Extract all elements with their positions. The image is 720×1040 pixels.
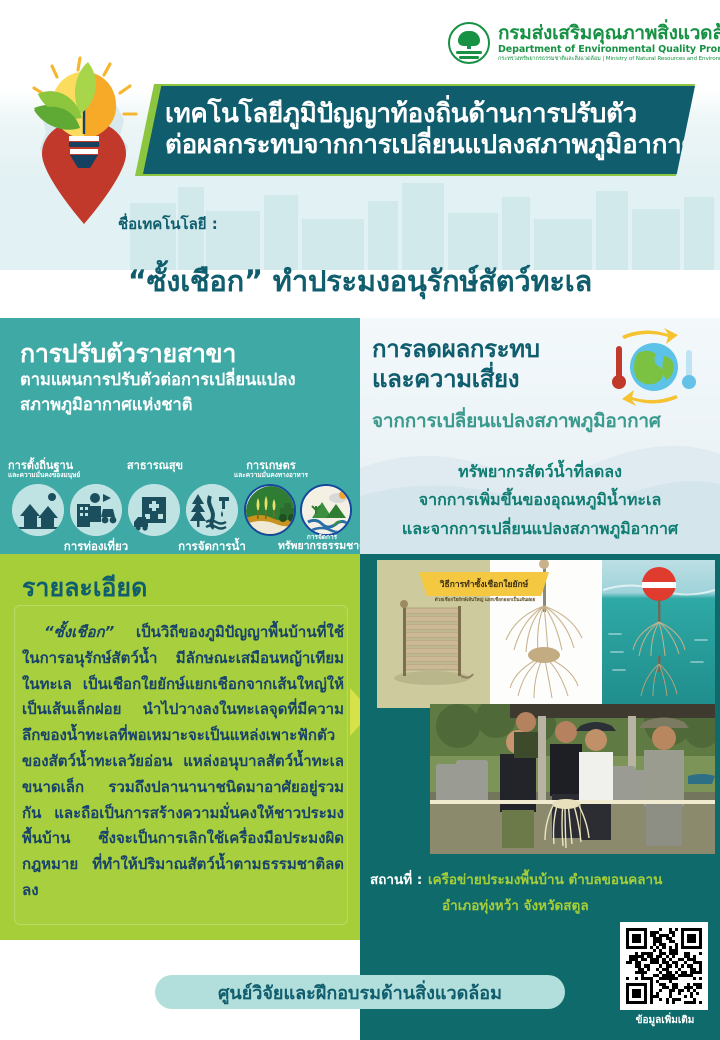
sector-item-tourism[interactable] bbox=[70, 484, 122, 536]
details-quoted-term: “ซั้งเชือก” bbox=[44, 623, 114, 641]
details-text: “ซั้งเชือก” เป็นวิถีของภูมิปัญญาพื้นบ้าน… bbox=[22, 620, 344, 904]
sector-item-settlement[interactable] bbox=[12, 484, 64, 536]
sector-item-water-management[interactable] bbox=[186, 484, 238, 536]
location-line2: อำเภอทุ่งหว้า จังหวัดสตูล bbox=[442, 894, 589, 916]
sector-label-tourism: การท่องเที่ยว bbox=[46, 540, 146, 553]
mitigation-body-line2: จากการเพิ่มขึ้นของอุณหภูมิน้ำทะเล bbox=[360, 486, 720, 514]
technology-name: “ซั้งเชือก” ทำประมงอนุรักษ์สัตว์ทะเล bbox=[0, 258, 720, 304]
mitigation-body: ทรัพยากรสัตว์น้ำที่ลดลง จากการเพิ่มขึ้นข… bbox=[360, 458, 720, 543]
org-ministry-line: กระทรวงทรัพยากรธรรมชาติและสิ่งแวดล้อม | … bbox=[498, 57, 720, 63]
org-name-thai: กรมส่งเสริมคุณภาพสิ่งแวดล้อม bbox=[498, 24, 720, 44]
poster-title-line1: เทคโนโลยีภูมิปัญญาท้องถิ่นด้านการปรับตัว bbox=[165, 99, 695, 130]
sector-item-public-health[interactable] bbox=[128, 484, 180, 536]
agriculture-icon bbox=[244, 484, 296, 536]
sector-icons-row: การตั้งถิ่นฐาน และความมั่นคงของมนุษย์ bbox=[8, 460, 356, 550]
footer-pill: ศูนย์วิจัยและฝึกอบรมด้านสิ่งแวดล้อม bbox=[155, 975, 565, 1009]
details-body: เป็นวิถีของภูมิปัญญาพื้นบ้านที่ใช้ในการอ… bbox=[22, 623, 344, 899]
diagram-title: วิธีการทำซั้งเชือกใยยักษ์ bbox=[440, 577, 529, 591]
settlement-icon bbox=[12, 484, 64, 536]
deqp-logo: กรมส่งเสริมคุณภาพสิ่งแวดล้อม Department … bbox=[448, 22, 720, 64]
sector-label-settlement: การตั้งถิ่นฐาน และความมั่นคงของมนุษย์ bbox=[8, 460, 70, 480]
mitigation-heading-line1: การลดผลกระทบ bbox=[372, 334, 602, 364]
qr-caption: ข้อมูลเพิ่มเติม bbox=[615, 1013, 715, 1028]
sector-item-agriculture[interactable] bbox=[244, 484, 296, 536]
globe-thermometer-icon bbox=[604, 326, 699, 411]
sector-label-public-health: สาธารณสุข bbox=[112, 460, 198, 472]
org-name-english: Department of Environmental Quality Prom… bbox=[498, 45, 720, 55]
public-health-icon bbox=[128, 484, 180, 536]
diagram-subtitle: ด้วยเชือกใยยักษ์เส้นใหญ่ แยกเชือกออกเป็น… bbox=[425, 597, 545, 604]
poster-root: กรมส่งเสริมคุณภาพสิ่งแวดล้อม Department … bbox=[0, 0, 720, 1040]
title-banner: เทคโนโลยีภูมิปัญญาท้องถิ่นด้านการปรับตัว… bbox=[143, 86, 695, 174]
details-heading: รายละเอียด bbox=[22, 568, 147, 608]
qr-code-icon[interactable] bbox=[620, 922, 708, 1010]
rope-fad-construction-diagram: วิธีการทำซั้งเชือกใยยักษ์ ด้วยเชือกใยยัก… bbox=[377, 560, 715, 708]
poster-title-line2: ต่อผลกระทบจากการเปลี่ยนแปลงสภาพภูมิอากาศ bbox=[165, 130, 695, 161]
adaptation-subheading-line1: ตามแผนการปรับตัวต่อการเปลี่ยนแปลง bbox=[20, 368, 350, 393]
lightbulb-overlay bbox=[24, 56, 144, 206]
location-label: สถานที่ : bbox=[370, 868, 422, 890]
sector-item-natural-resources[interactable] bbox=[300, 484, 352, 536]
deqp-emblem-icon bbox=[448, 22, 490, 64]
water-management-icon bbox=[186, 484, 238, 536]
mitigation-heading-line2: และความเสี่ยง bbox=[372, 364, 602, 394]
mitigation-body-line1: ทรัพยากรสัตว์น้ำที่ลดลง bbox=[360, 458, 720, 486]
adaptation-subheading-line2: สภาพภูมิอากาศแห่งชาติ bbox=[20, 393, 350, 418]
technology-label: ชื่อเทคโนโลยี : bbox=[118, 212, 218, 236]
diagram-title-banner: วิธีการทำซั้งเชือกใยยักษ์ bbox=[419, 572, 549, 596]
sector-label-water-management: การจัดการน้ำ bbox=[160, 540, 264, 553]
adaptation-subheading: ตามแผนการปรับตัวต่อการเปลี่ยนแปลง สภาพภู… bbox=[20, 368, 350, 418]
sector-label-natural-resources: การจัดการ ทรัพยากรธรรมชาติ bbox=[276, 534, 368, 553]
tourism-icon bbox=[70, 484, 122, 536]
footer-text: ศูนย์วิจัยและฝึกอบรมด้านสิ่งแวดล้อม bbox=[218, 978, 502, 1007]
location-line1: เครือข่ายประมงพื้นบ้าน ตำบลขอนคลาน bbox=[428, 868, 662, 890]
mitigation-heading: การลดผลกระทบ และความเสี่ยง bbox=[372, 334, 602, 395]
natural-resources-icon bbox=[300, 484, 352, 536]
sector-label-agriculture: การเกษตร และความมั่นคงทางอาหาร bbox=[224, 460, 318, 480]
fishermen-photo bbox=[430, 704, 715, 854]
mitigation-body-line3: และจากการเปลี่ยนแปลงสภาพภูมิอากาศ bbox=[360, 515, 720, 543]
